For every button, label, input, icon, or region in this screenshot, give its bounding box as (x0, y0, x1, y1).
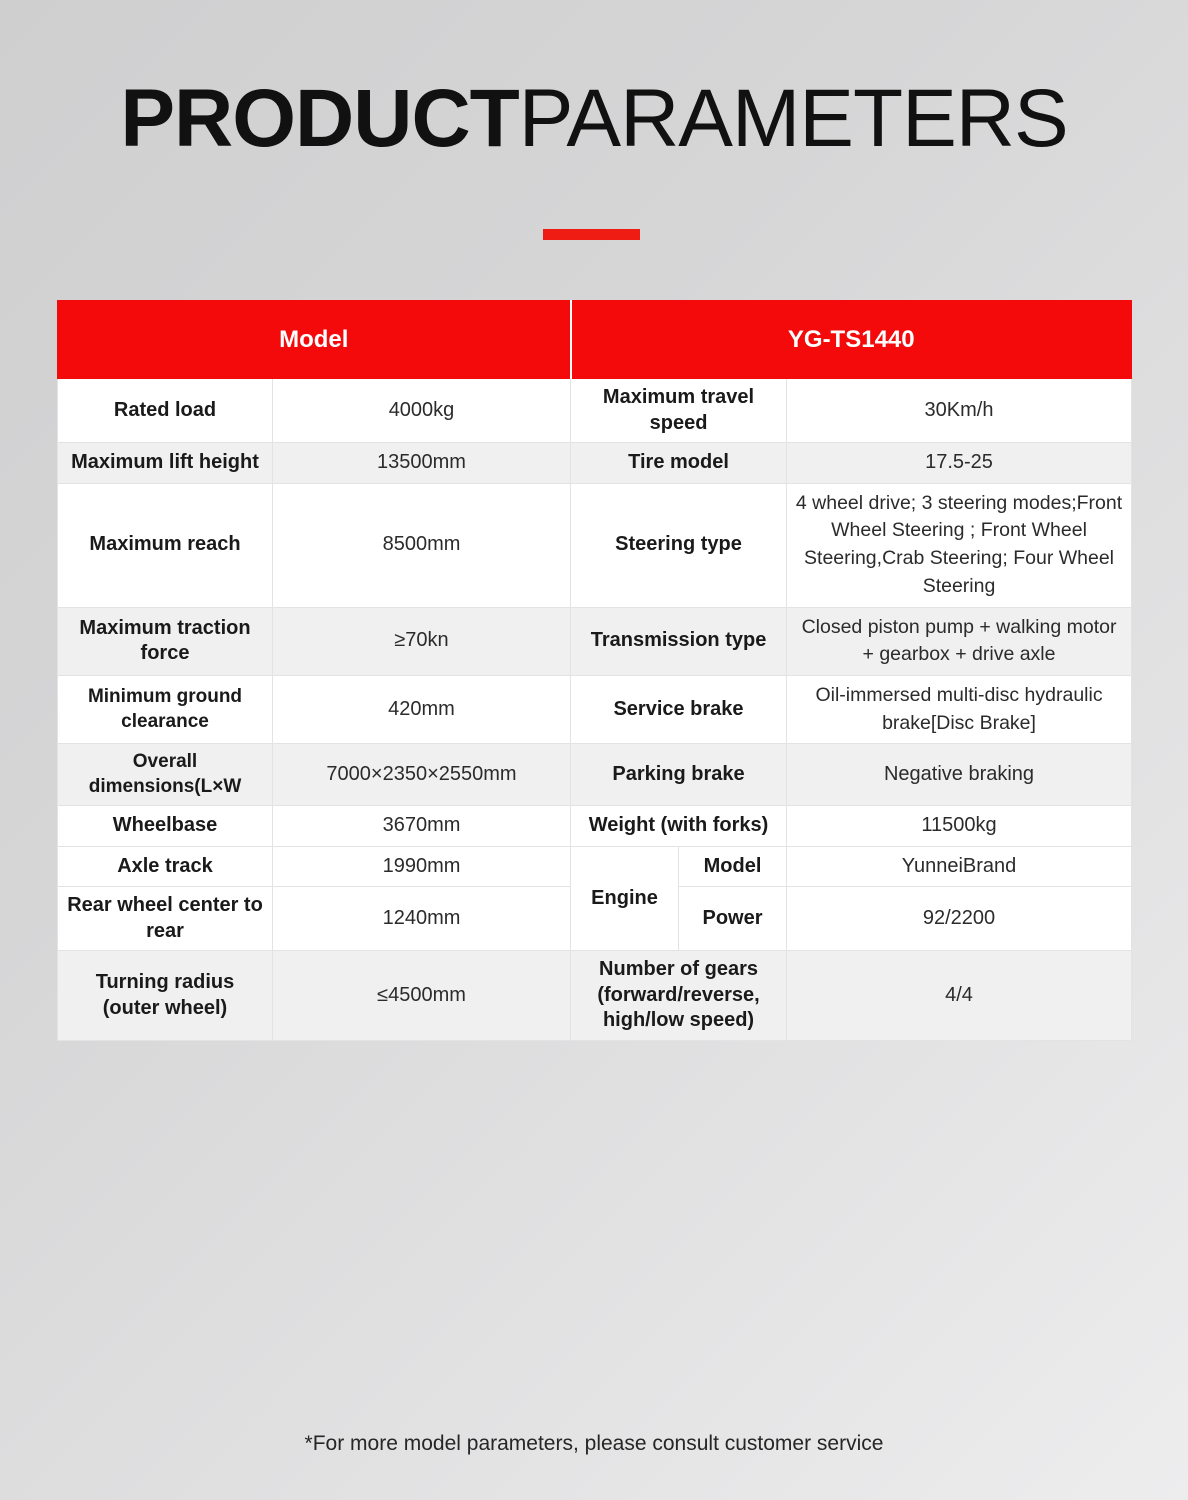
row-label-service-brake: Service brake (571, 675, 787, 743)
row-label-engine-power: Power (679, 887, 787, 951)
title-accent-bar (543, 229, 640, 240)
footnote: *For more model parameters, please consu… (0, 1432, 1188, 1456)
row-value-parking-brake: Negative braking (787, 744, 1132, 806)
row-label-engine-group: Engine (571, 846, 679, 951)
table-row: Rated load 4000kg Maximum travel speed 3… (58, 379, 1132, 443)
page-title-light: PARAMETERS (519, 73, 1068, 164)
row-label-turning-radius: Turning radius (outer wheel) (58, 951, 273, 1041)
row-label-max-travel-speed: Maximum travel speed (571, 379, 787, 443)
row-value-max-lift-height: 13500mm (273, 443, 571, 484)
header-model-value: YG-TS1440 (571, 301, 1132, 379)
row-value-wheelbase: 3670mm (273, 805, 571, 846)
row-label-min-ground-clearance: Minimum ground clearance (58, 675, 273, 743)
row-label-engine-model: Model (679, 846, 787, 887)
row-label-weight-with-forks: Weight (with forks) (571, 805, 787, 846)
row-label-overall-dimensions: Overall dimensions(L×W (58, 744, 273, 806)
row-value-turning-radius: ≤4500mm (273, 951, 571, 1041)
row-value-max-reach: 8500mm (273, 483, 571, 607)
row-value-steering-type: 4 wheel drive; 3 steering modes;Front Wh… (787, 483, 1132, 607)
row-label-steering-type: Steering type (571, 483, 787, 607)
row-value-service-brake: Oil-immersed multi-disc hydraulic brake[… (787, 675, 1132, 743)
table-row: Minimum ground clearance 420mm Service b… (58, 675, 1132, 743)
row-value-rear-wheel-center-to-rear: 1240mm (273, 887, 571, 951)
product-parameters-page: PRODUCTPARAMETERS Model YG-TS1440 Rated … (0, 0, 1188, 1500)
row-label-number-of-gears: Number of gears (forward/reverse, high/l… (571, 951, 787, 1041)
table-header-row: Model YG-TS1440 (58, 301, 1132, 379)
table-row: Maximum lift height 13500mm Tire model 1… (58, 443, 1132, 484)
row-value-engine-model: YunneiBrand (787, 846, 1132, 887)
row-label-wheelbase: Wheelbase (58, 805, 273, 846)
row-label-transmission-type: Transmission type (571, 607, 787, 675)
row-value-axle-track: 1990mm (273, 846, 571, 887)
row-value-tire-model: 17.5-25 (787, 443, 1132, 484)
page-title-strong: PRODUCT (120, 73, 518, 164)
row-value-max-traction-force: ≥70kn (273, 607, 571, 675)
table-row: Overall dimensions(L×W 7000×2350×2550mm … (58, 744, 1132, 806)
row-value-weight-with-forks: 11500kg (787, 805, 1132, 846)
row-value-transmission-type: Closed piston pump + walking motor + gea… (787, 607, 1132, 675)
page-title: PRODUCTPARAMETERS (0, 72, 1188, 166)
row-value-overall-dimensions: 7000×2350×2550mm (273, 744, 571, 806)
row-label-rated-load: Rated load (58, 379, 273, 443)
table-row: Maximum traction force ≥70kn Transmissio… (58, 607, 1132, 675)
spec-table: Model YG-TS1440 Rated load 4000kg Maximu… (57, 300, 1132, 1041)
row-label-axle-track: Axle track (58, 846, 273, 887)
row-label-parking-brake: Parking brake (571, 744, 787, 806)
row-value-engine-power: 92/2200 (787, 887, 1132, 951)
row-label-rear-wheel-center-to-rear: Rear wheel center to rear (58, 887, 273, 951)
row-value-max-travel-speed: 30Km/h (787, 379, 1132, 443)
table-row: Axle track 1990mm Engine Model YunneiBra… (58, 846, 1132, 887)
row-label-max-reach: Maximum reach (58, 483, 273, 607)
row-label-tire-model: Tire model (571, 443, 787, 484)
row-label-max-traction-force: Maximum traction force (58, 607, 273, 675)
row-value-min-ground-clearance: 420mm (273, 675, 571, 743)
row-value-number-of-gears: 4/4 (787, 951, 1132, 1041)
header-model-label: Model (58, 301, 571, 379)
table-row: Turning radius (outer wheel) ≤4500mm Num… (58, 951, 1132, 1041)
spec-table-container: Model YG-TS1440 Rated load 4000kg Maximu… (57, 300, 1131, 1041)
table-row: Wheelbase 3670mm Weight (with forks) 115… (58, 805, 1132, 846)
row-value-rated-load: 4000kg (273, 379, 571, 443)
table-row: Maximum reach 8500mm Steering type 4 whe… (58, 483, 1132, 607)
row-label-max-lift-height: Maximum lift height (58, 443, 273, 484)
